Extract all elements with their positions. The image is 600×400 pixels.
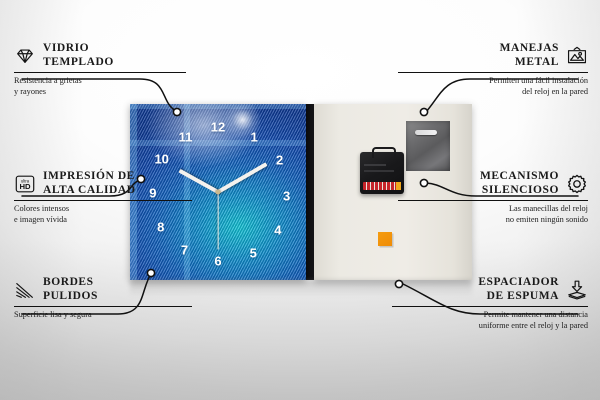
feature-divider [14,72,186,73]
feature-divider [14,200,192,201]
feature-title: MECANISMO SILENCIOSO [480,170,559,197]
feature-title: MANEJAS METAL [500,42,559,69]
connector-dot-manejas [420,108,427,115]
feature-subtitle: Colores intensos e imagen vívida [14,204,192,225]
feature-vidrio-templado: VIDRIO TEMPLADO Resistencia a grietas y … [14,42,186,97]
foam-spacer-icon [566,279,588,301]
svg-text:HD: HD [19,182,31,191]
ultra-hd-icon: ultra HD [14,173,36,195]
feature-espaciador-de-espuma: ESPACIADOR DE ESPUMA Permite mantener un… [392,276,588,331]
feature-title: BORDES PULIDOS [43,276,98,303]
feature-subtitle: Superficie lisa y segura [14,310,192,320]
diamond-icon [14,45,36,67]
feature-divider [398,200,588,201]
product-infographic: 12 1 2 3 4 5 6 7 8 9 10 11 [0,0,600,400]
feature-subtitle: Las manecillas del reloj no emiten ningú… [398,204,588,225]
feature-divider [14,306,192,307]
feature-bordes-pulidos: BORDES PULIDOS Superficie lisa y segura [14,276,192,321]
picture-hanger-icon [566,45,588,67]
feature-divider [398,72,588,73]
connector-dot-vidrio-templado [173,108,180,115]
polished-edges-icon [14,279,36,301]
feature-title: IMPRESIÓN DE ALTA CALIDAD [43,170,136,197]
feature-title: VIDRIO TEMPLADO [43,42,114,69]
feature-divider [392,306,588,307]
feature-impresion-alta-calidad: ultra HD IMPRESIÓN DE ALTA CALIDAD Color… [14,170,192,225]
feature-manejas-metal: MANEJAS METAL Permiten una fácil instala… [398,42,588,97]
feature-subtitle: Resistencia a grietas y rayones [14,76,186,97]
feature-mecanismo-silencioso: MECANISMO SILENCIOSO Las manecillas del … [398,170,588,225]
gear-icon [566,173,588,195]
feature-subtitle: Permiten una fácil instalación del reloj… [398,76,588,97]
feature-subtitle: Permite mantener una distancia uniforme … [392,310,588,331]
feature-title: ESPACIADOR DE ESPUMA [478,276,559,303]
